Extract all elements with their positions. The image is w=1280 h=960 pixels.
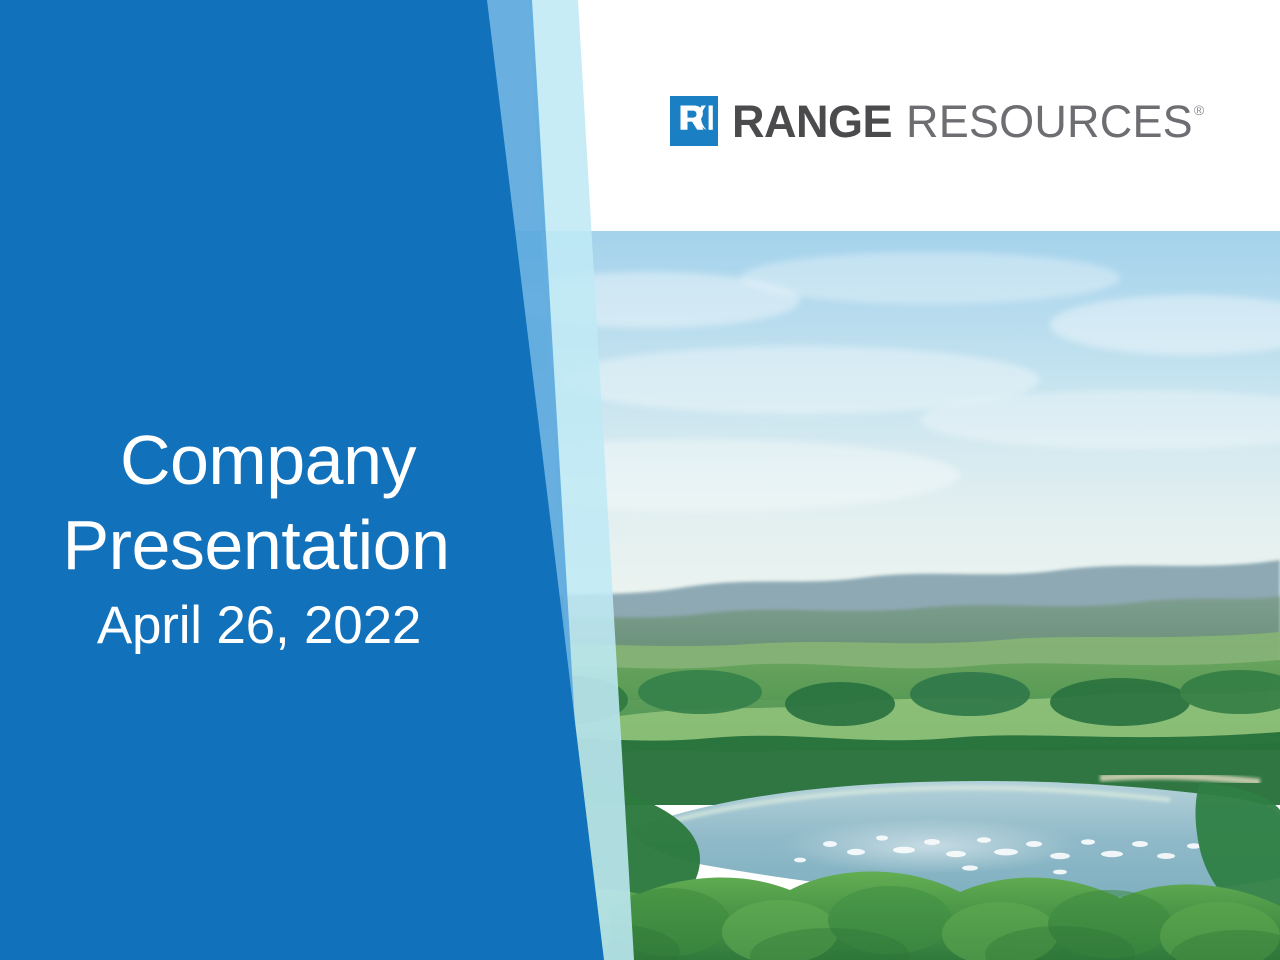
slide-date: April 26, 2022	[0, 597, 512, 655]
slide-title-line-1: Company	[0, 418, 512, 503]
title-block: Company Presentation April 26, 2022	[0, 418, 512, 655]
range-resources-logo-mark-icon	[670, 96, 718, 146]
registered-trademark-symbol: ®	[1194, 103, 1204, 117]
presentation-title-slide: RANGE RESOURCES ® Company Presentation A…	[0, 0, 1280, 960]
cover-photo	[500, 230, 1280, 960]
wordmark-range: RANGE	[732, 99, 892, 144]
slide-title-line-2: Presentation	[0, 503, 512, 588]
brand-logo[interactable]: RANGE RESOURCES ®	[670, 93, 1204, 149]
wordmark-resources: RESOURCES	[906, 99, 1193, 144]
landscape-photo-illustration	[500, 230, 1280, 960]
brand-wordmark: RANGE RESOURCES ®	[732, 99, 1204, 144]
